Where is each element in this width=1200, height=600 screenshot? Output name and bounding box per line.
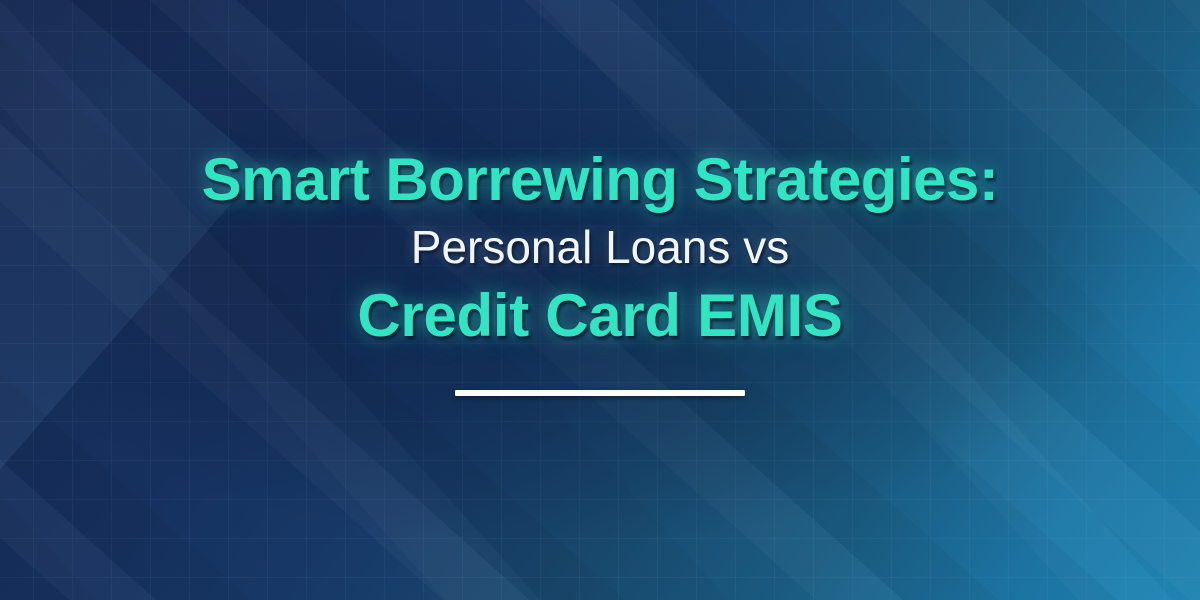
headline-line-tertiary: Credit Card EMIS — [357, 286, 842, 346]
headline-divider-rule — [455, 390, 745, 396]
title-banner: Smart Borrewing Strategies: Personal Loa… — [0, 0, 1200, 600]
headline-block: Smart Borrewing Strategies: Personal Loa… — [0, 0, 1200, 600]
headline-line-primary: Smart Borrewing Strategies: — [202, 150, 999, 210]
headline-line-secondary: Personal Loans vs — [411, 224, 789, 270]
